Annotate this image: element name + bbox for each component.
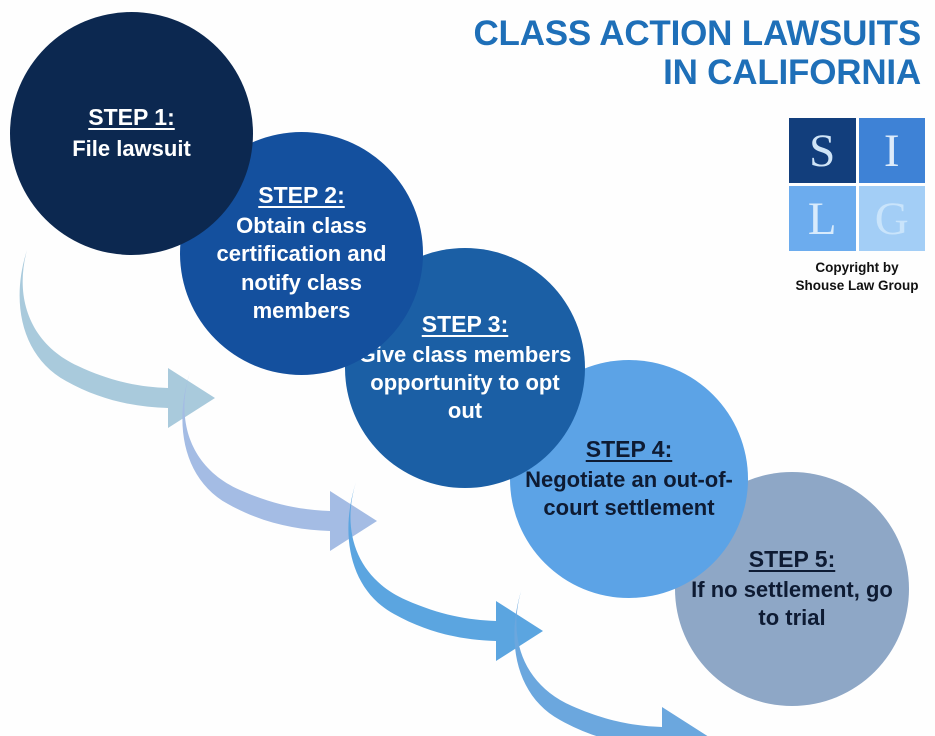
step-circle-1: STEP 1: File lawsuit [10,12,253,255]
step-1-heading: STEP 1: [88,104,175,131]
step-5-heading: STEP 5: [749,546,836,573]
title-line-1: CLASS ACTION LAWSUITS [401,14,921,53]
logo-letter-i: I [859,118,926,183]
logo-letter-s: S [789,118,856,183]
copyright-line-1: Copyright by [789,259,925,277]
step-3-heading: STEP 3: [422,311,509,338]
silg-logo: S I L G [789,118,925,251]
copyright-line-2: Shouse Law Group [789,277,925,295]
page-title: CLASS ACTION LAWSUITS IN CALIFORNIA [401,14,921,92]
logo-letter-l: L [789,186,856,251]
step-5-body: If no settlement, go to trial [675,576,909,632]
shouse-law-group-logo-block: S I L G Copyright by Shouse Law Group [789,118,925,295]
step-1-body: File lawsuit [72,135,191,163]
logo-letter-g: G [859,186,926,251]
step-3-body: Give class members opportunity to opt ou… [345,341,585,425]
step-2-heading: STEP 2: [258,182,345,209]
step-4-body: Negotiate an out-of-court settlement [510,466,748,522]
title-line-2: IN CALIFORNIA [401,53,921,92]
infographic-canvas: CLASS ACTION LAWSUITS IN CALIFORNIA S I … [0,0,935,736]
copyright-notice: Copyright by Shouse Law Group [789,259,925,295]
step-2-body: Obtain class certification and notify cl… [180,212,423,325]
step-4-heading: STEP 4: [586,436,673,463]
